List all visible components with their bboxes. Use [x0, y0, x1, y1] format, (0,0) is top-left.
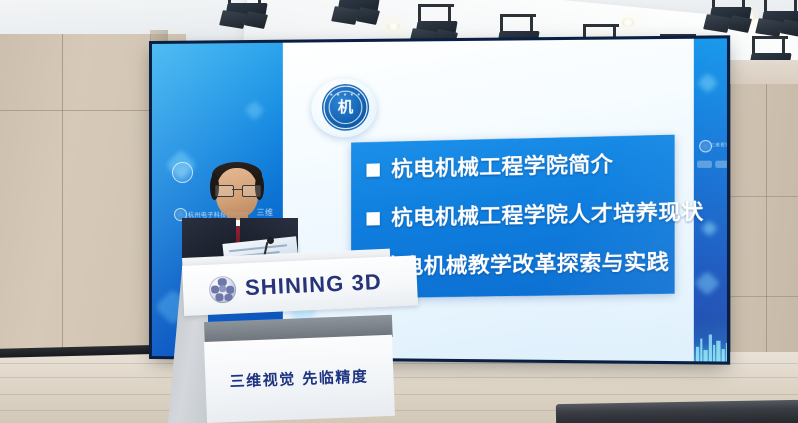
- conference-hall-scene: 学会 SOCIETY 杭州电子科技大学 三维 三维视觉产业 ★ ★ ★ ★ ★ …: [0, 0, 798, 423]
- foreground-furniture: [556, 400, 798, 423]
- slide-bullet-item: 杭电机械工程学院简介: [354, 137, 699, 194]
- sponsor-logo-label: 三维视觉产业: [711, 142, 727, 148]
- bullet-square-icon: [366, 212, 379, 225]
- sponsor-chip: [697, 161, 712, 168]
- slide-bullet-item: 杭电机械工程学院人才培养现状: [354, 187, 699, 243]
- slide-bullet-text: 杭电机械教学改革探索与实践: [380, 251, 669, 277]
- skyline-graphic: [694, 320, 727, 362]
- podium-brand-panel: SHINING 3D: [182, 255, 418, 316]
- eyeglasses-icon: [215, 185, 260, 195]
- podium-brand-text: SHINING 3D: [244, 269, 382, 301]
- emblem-stars: ★ ★ ★ ★ ★: [325, 92, 367, 97]
- sponsor-chip: [715, 161, 727, 168]
- emblem-glyph: 机: [338, 99, 353, 114]
- bullet-square-icon: [366, 163, 379, 176]
- microphone-capsule-icon: [267, 237, 274, 244]
- podium: SHINING 3D 三维视觉 先临精度: [168, 258, 390, 423]
- slide-bullet-text: 杭电机械工程学院简介: [391, 153, 613, 179]
- shining-3d-sphere-logo: [208, 275, 236, 303]
- recessed-downlight: [387, 22, 400, 31]
- university-emblem: ★ ★ ★ ★ ★ 机: [324, 85, 368, 129]
- slide-bullet-text: 杭电机械工程学院人才培养现状: [391, 201, 704, 229]
- recessed-downlight: [622, 18, 634, 27]
